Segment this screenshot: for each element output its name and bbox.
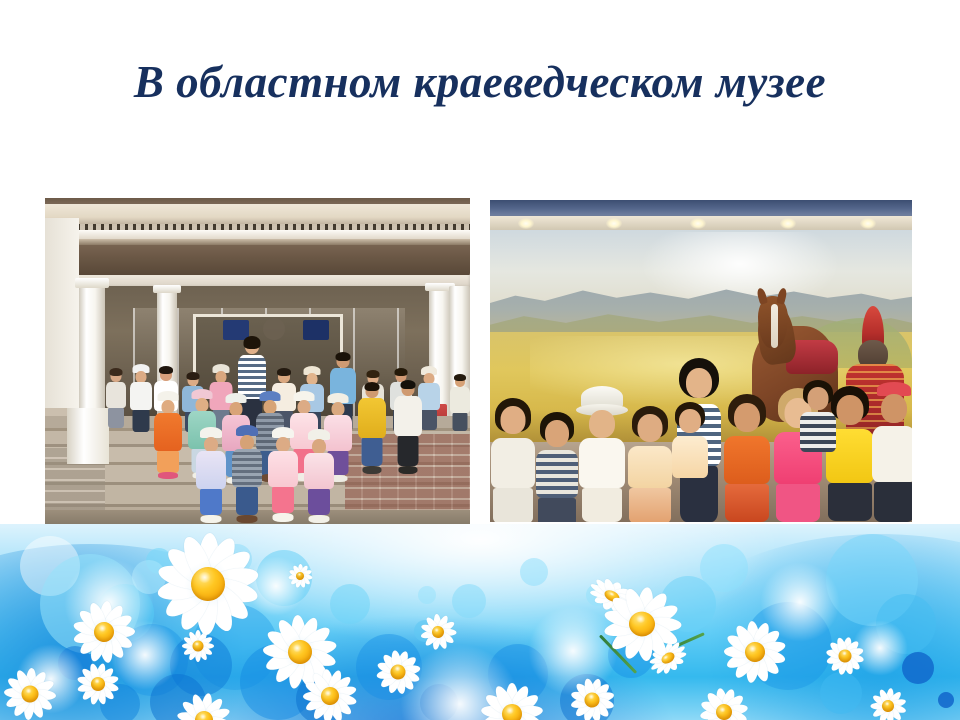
- daisy-flower: [482, 684, 542, 720]
- bokeh-circle: [700, 544, 748, 592]
- child-figure: [490, 400, 536, 522]
- child-figure: [798, 382, 838, 462]
- presentation-slide: В областном краеведческом музее: [0, 0, 960, 720]
- daisy-flower: [301, 667, 360, 720]
- daisy-flower: [3, 667, 56, 720]
- child-figure: [195, 430, 227, 522]
- bokeh-circle: [902, 652, 934, 684]
- photo-museum-diorama[interactable]: [490, 200, 912, 522]
- daisy-flower: [722, 619, 788, 685]
- daisy-flower: [71, 599, 137, 665]
- side-wall: [45, 218, 79, 408]
- daisy-center: [296, 572, 304, 580]
- child-figure: [393, 382, 423, 476]
- daisy-flower: [156, 532, 259, 635]
- decorative-floral-border: [0, 524, 960, 720]
- child-figure: [303, 432, 335, 522]
- bokeh-circle: [452, 584, 486, 618]
- child-figure: [449, 376, 470, 432]
- daisy-flower: [288, 564, 312, 588]
- daisy-flower: [868, 686, 909, 720]
- child-figure: [670, 404, 710, 496]
- horse-blaze: [771, 304, 778, 348]
- column-1-capital: [75, 278, 109, 288]
- child-figure: [231, 428, 263, 522]
- page-title: В областном краеведческом музее: [0, 58, 960, 108]
- wall-emblem-center: [263, 318, 285, 340]
- photo-museum-entrance[interactable]: [45, 198, 470, 525]
- ceiling-light: [780, 218, 796, 229]
- building-upper-wall: [45, 204, 470, 226]
- ceiling-light: [518, 218, 534, 229]
- awning-highlight: [71, 239, 470, 245]
- daisy-flower: [418, 612, 458, 652]
- child-figure: [722, 396, 772, 522]
- step-pedestal: [67, 408, 109, 464]
- bokeh-circle: [418, 586, 436, 604]
- child-figure: [153, 394, 183, 478]
- daisy-flower: [822, 633, 867, 678]
- column-2-capital: [153, 285, 181, 293]
- daisy-center: [502, 704, 522, 720]
- child-figure: [267, 430, 299, 522]
- child-figure: [129, 366, 153, 432]
- bokeh-circle: [330, 584, 370, 624]
- bokeh-circle: [938, 692, 954, 708]
- child-figure: [576, 388, 628, 522]
- daisy-center: [193, 641, 204, 652]
- child-figure: [105, 370, 127, 430]
- bokeh-circle: [820, 672, 862, 714]
- ceiling-light: [690, 218, 706, 229]
- child-figure: [534, 414, 580, 522]
- ceiling-light: [860, 218, 876, 229]
- child-figure: [872, 386, 912, 522]
- ceiling-light: [606, 218, 622, 229]
- daisy-flower: [599, 583, 684, 665]
- child-figure: [626, 408, 674, 522]
- daisy-flower: [182, 630, 214, 662]
- bokeh-circle: [520, 558, 548, 586]
- child-figure: [357, 384, 387, 476]
- wall-emblem-right: [303, 320, 329, 340]
